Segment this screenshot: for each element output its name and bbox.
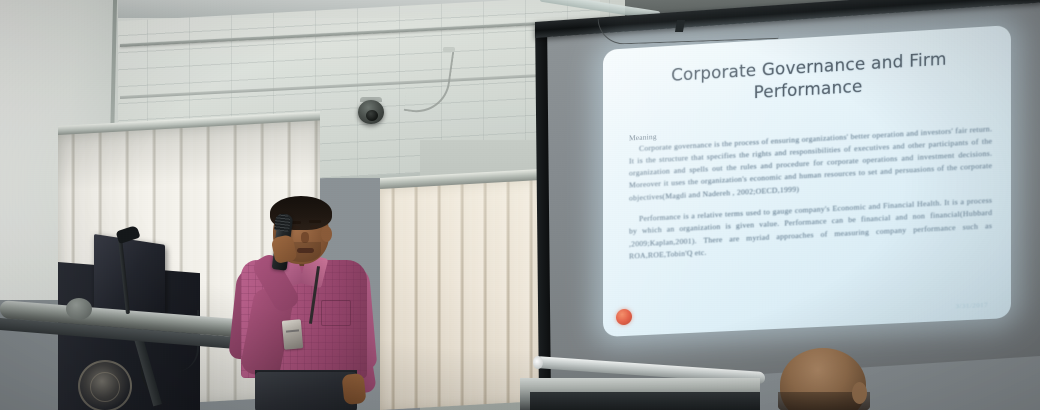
slide-title: Corporate Governance and Firm Performanc… [639, 46, 980, 110]
slide-logo-icon [616, 309, 632, 326]
presenter-shirt-pocket [321, 300, 351, 326]
audience-member-ear [852, 382, 867, 404]
presenter-ear [321, 226, 332, 242]
podium-crest-inner-icon [90, 372, 120, 402]
projection-screen: Corporate Governance and Firm Performanc… [535, 6, 1040, 384]
camera-lens-icon [366, 110, 378, 121]
podium-rail-knob [66, 298, 92, 320]
slide-paragraph-2: Performance is a relative terms used to … [629, 194, 992, 262]
presenter-eyebrow-right [309, 220, 321, 223]
slide-date-stamp: 3/31/2017 [956, 302, 988, 311]
presenter-id-badge [282, 319, 303, 350]
presenter-trousers [255, 372, 357, 410]
projection-screen-roller-cap [533, 356, 543, 369]
presentation-photo: Corporate Governance and Firm Performanc… [0, 0, 1040, 410]
presenter-eye-left [291, 226, 300, 230]
wire-clip-icon [443, 47, 455, 52]
projected-slide: Corporate Governance and Firm Performanc… [603, 25, 1011, 337]
vertical-blinds-right-shading [380, 177, 542, 410]
slide-title-line-2: Performance [754, 76, 863, 102]
presenter-speaker [225, 196, 375, 410]
presenter-mouth [297, 248, 314, 253]
slide-body: Meaning Corporate governance is the proc… [625, 112, 994, 263]
front-row-table-edge [530, 392, 760, 410]
presenter-right-hand [341, 373, 366, 405]
presenter-eye-right [310, 225, 319, 229]
handheld-microphone-grille-icon [274, 213, 291, 232]
